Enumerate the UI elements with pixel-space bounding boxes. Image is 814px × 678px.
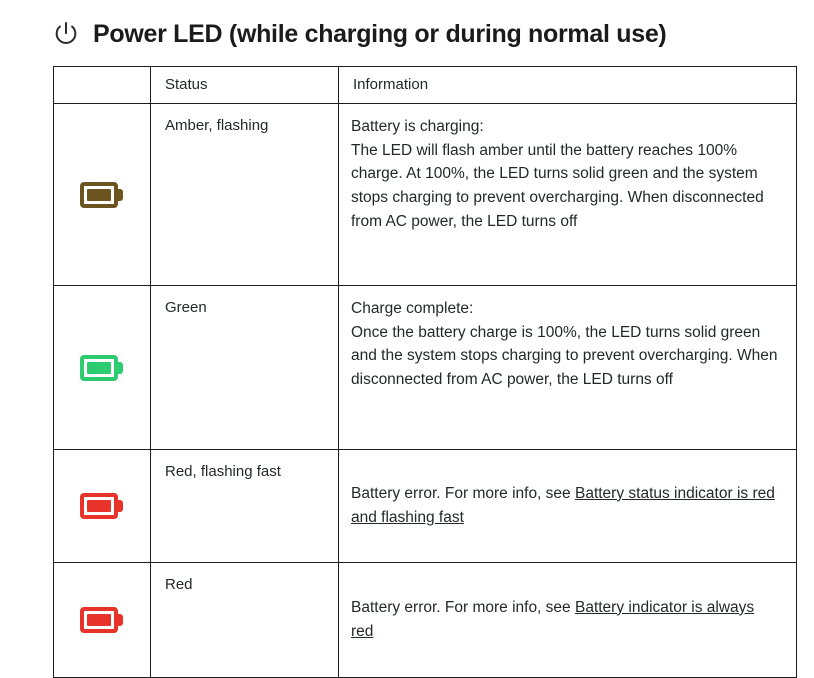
header-label-information: Information <box>339 67 796 94</box>
page-title: Power LED (while charging or during norm… <box>93 22 666 47</box>
cell-status: Red, flashing fast <box>151 450 339 563</box>
info-line: The LED will flash amber until the batte… <box>351 139 780 234</box>
battery-icon <box>80 355 124 381</box>
header-label-status: Status <box>151 67 338 94</box>
battery-fill <box>87 500 111 512</box>
table-row: Green Charge complete: Once the battery … <box>54 286 797 450</box>
table-row: Red Battery error. For more info, see Ba… <box>54 563 797 678</box>
cell-icon <box>54 104 151 286</box>
cell-information: Charge complete: Once the battery charge… <box>339 286 797 450</box>
info-line: Charge complete: <box>351 297 780 321</box>
header-cell-icon <box>54 67 151 104</box>
battery-icon <box>80 493 124 519</box>
table-row: Amber, flashing Battery is charging: The… <box>54 104 797 286</box>
header-cell-status: Status <box>151 67 339 104</box>
power-icon <box>52 20 80 48</box>
battery-fill <box>87 362 111 374</box>
cell-status: Amber, flashing <box>151 104 339 286</box>
cell-information: Battery error. For more info, see Batter… <box>339 450 797 563</box>
table-header-row: Status Information <box>54 67 797 104</box>
info-line: Battery is charging: <box>351 115 780 139</box>
battery-fill <box>87 614 111 626</box>
cell-icon <box>54 286 151 450</box>
battery-cap <box>117 614 123 626</box>
info-line: Once the battery charge is 100%, the LED… <box>351 321 780 392</box>
led-status-table: Status Information Amber, flashing <box>53 66 797 678</box>
header-label-icon <box>54 67 150 76</box>
cell-icon <box>54 563 151 678</box>
battery-icon <box>80 607 124 633</box>
info-text: Battery error. For more info, see <box>351 485 575 502</box>
battery-cap <box>117 189 123 201</box>
battery-icon <box>80 182 124 208</box>
cell-status: Red <box>151 563 339 678</box>
header-cell-information: Information <box>339 67 797 104</box>
page-heading: Power LED (while charging or during norm… <box>0 0 814 46</box>
cell-information: Battery is charging: The LED will flash … <box>339 104 797 286</box>
info-text: Battery error. For more info, see <box>351 599 575 616</box>
led-status-table-wrapper: Status Information Amber, flashing <box>0 46 814 678</box>
cell-information: Battery error. For more info, see Batter… <box>339 563 797 678</box>
battery-cap <box>117 362 123 374</box>
table-row: Red, flashing fast Battery error. For mo… <box>54 450 797 563</box>
battery-cap <box>117 500 123 512</box>
battery-fill <box>87 189 111 201</box>
cell-status: Green <box>151 286 339 450</box>
cell-icon <box>54 450 151 563</box>
